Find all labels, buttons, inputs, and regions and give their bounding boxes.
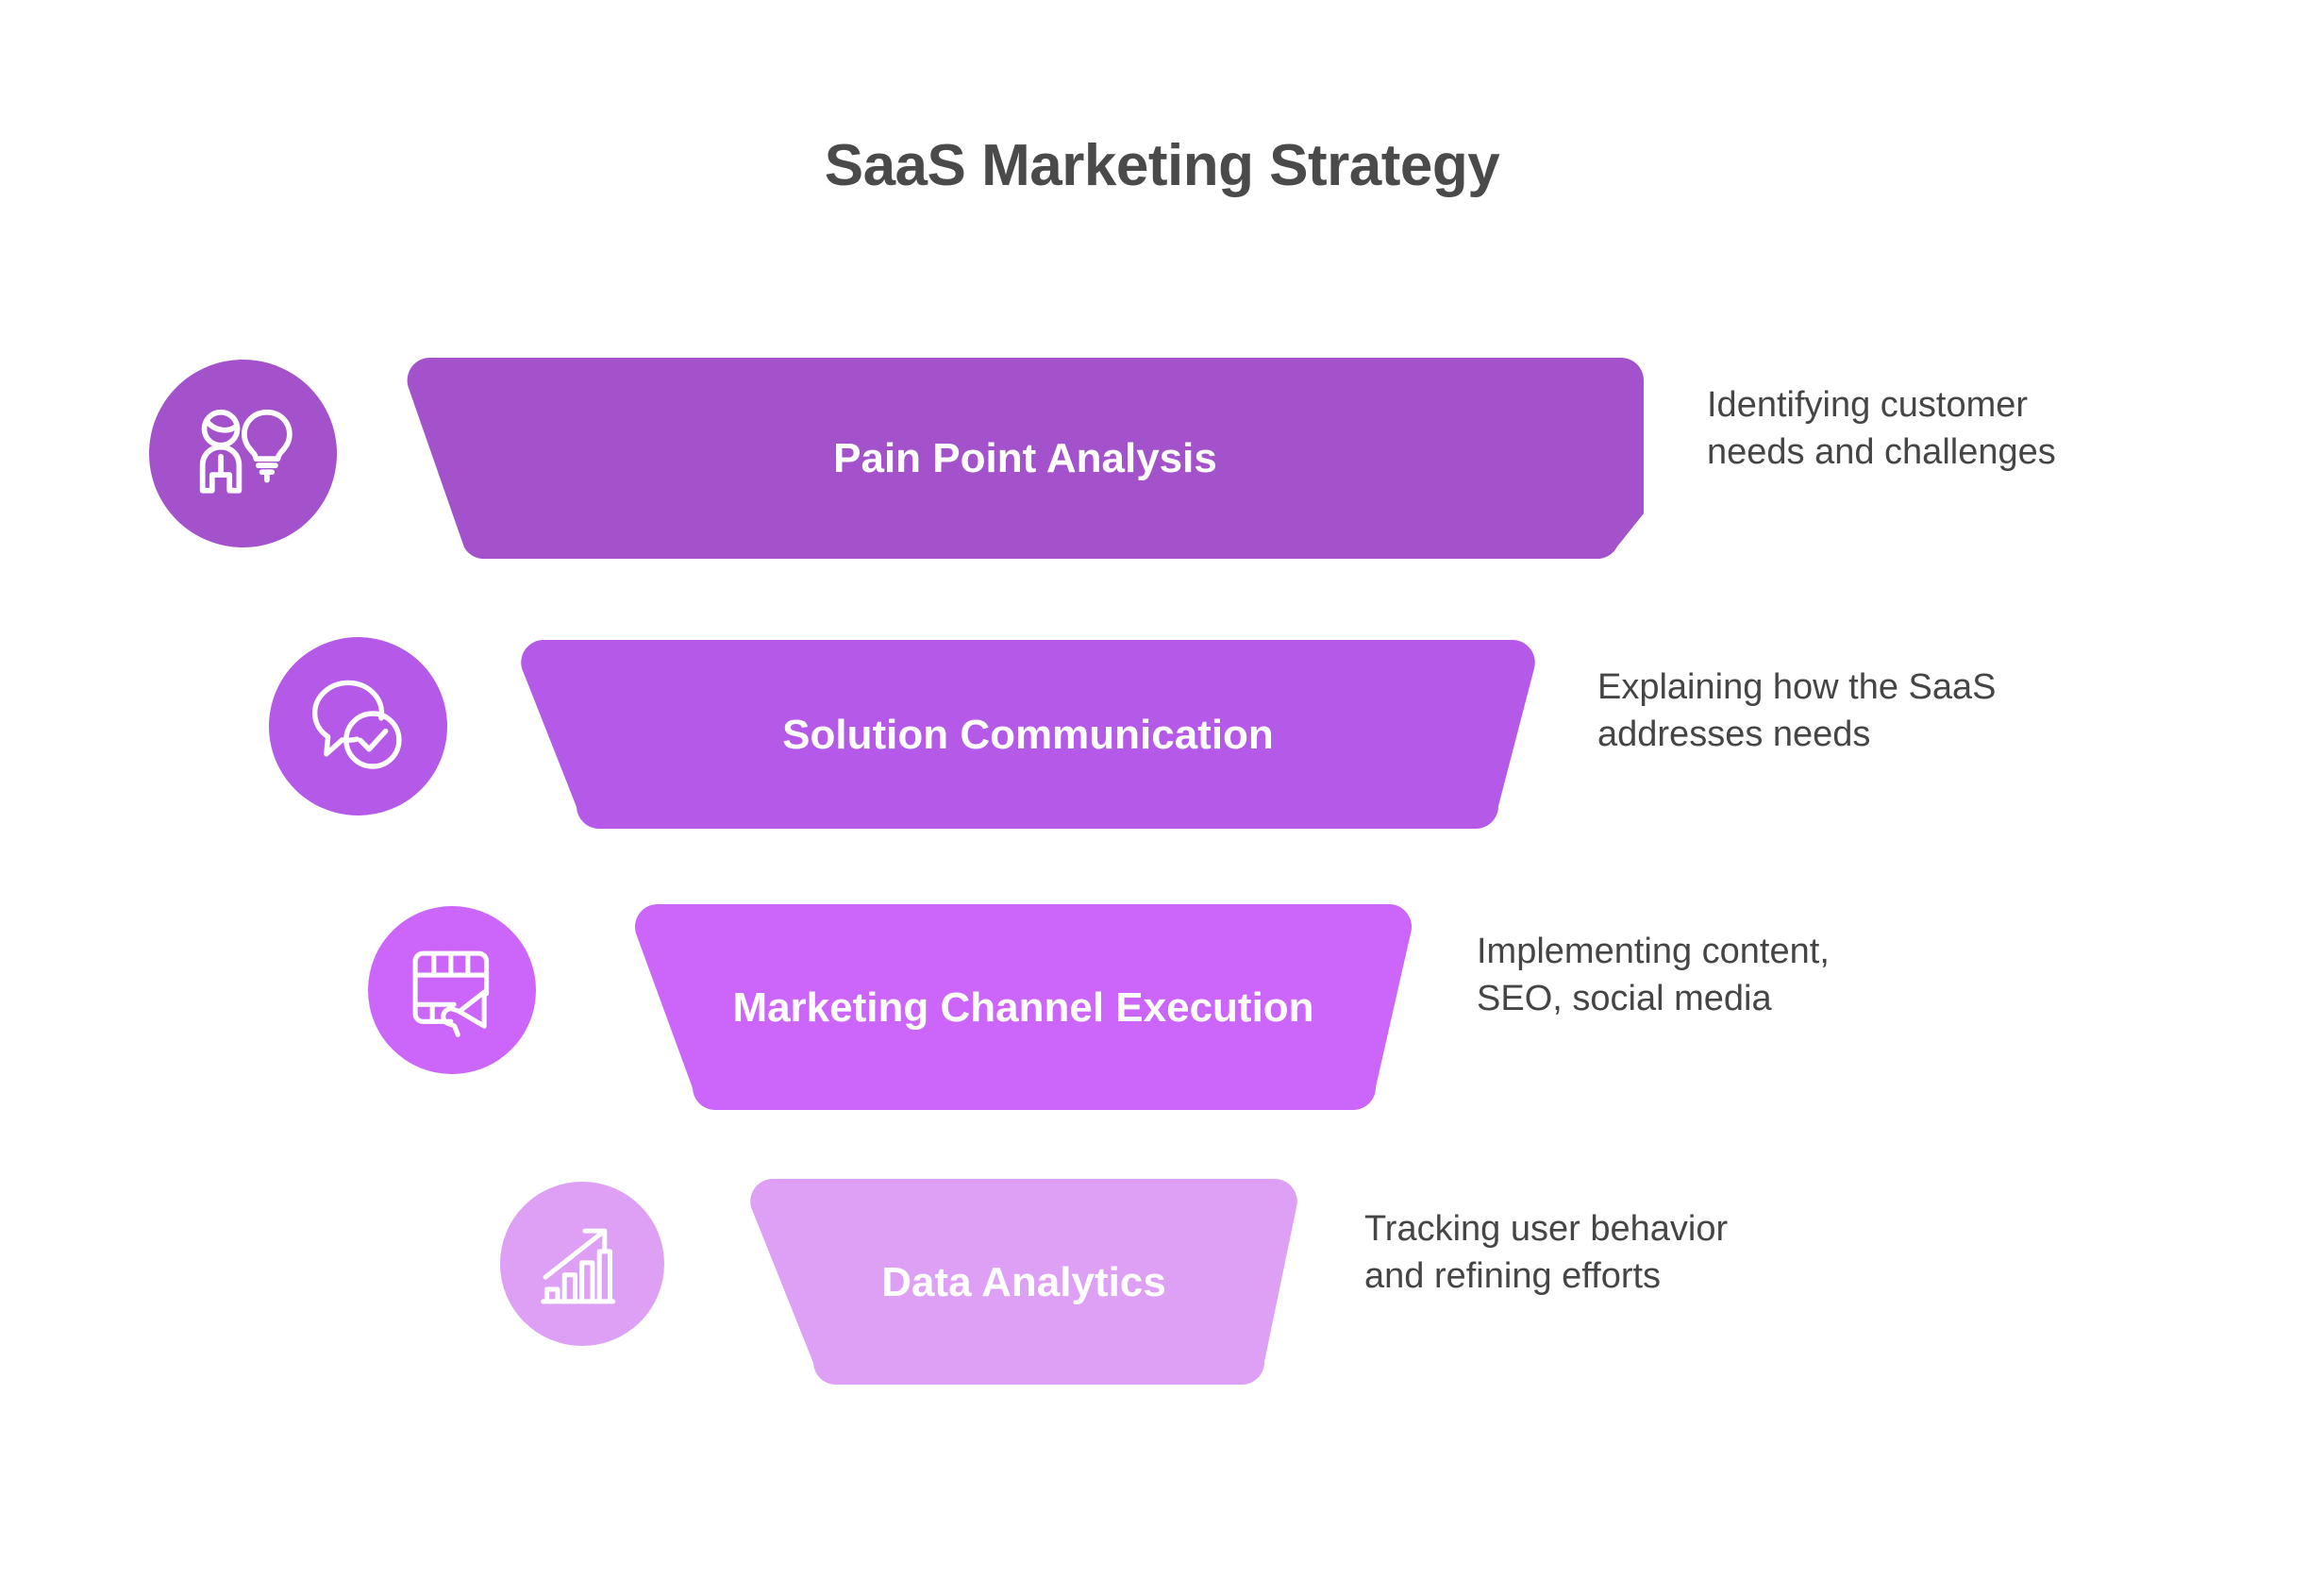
funnel-stage-description: Identifying customer needs and challenge… [1707,381,2160,476]
stage-icon-speech-check [269,637,447,815]
funnel-band-shape [635,904,1412,1110]
funnel-band-stage-1[interactable]: Pain Point Analysis [407,358,1644,559]
funnel-band-stage-4[interactable]: Data Analytics [750,1179,1297,1385]
page-title: SaaS Marketing Strategy [0,132,2324,199]
stage-icon-calendar-megaphone [368,906,536,1074]
stage-icon-person-lightbulb [149,360,337,547]
calendar-megaphone-icon [403,941,502,1040]
growth-bar-chart-icon [534,1216,631,1313]
funnel-band-shape [521,640,1535,829]
stage-icon-growth-chart [500,1182,664,1346]
funnel-band-shape [750,1179,1297,1385]
funnel-band-stage-3[interactable]: Marketing Channel Execution [635,904,1412,1110]
speech-bubble-check-icon [306,674,411,780]
funnel-band-stage-2[interactable]: Solution Communication [521,640,1535,829]
funnel-stage-description: Tracking user behavior and refining effo… [1364,1205,1836,1300]
funnel-stage-description: Explaining how the SaaS addresses needs [1597,664,2069,758]
funnel-stage-description: Implementing content, SEO, social media [1477,928,1948,1022]
person-lightbulb-icon [188,398,299,510]
funnel-band-shape [407,358,1644,559]
